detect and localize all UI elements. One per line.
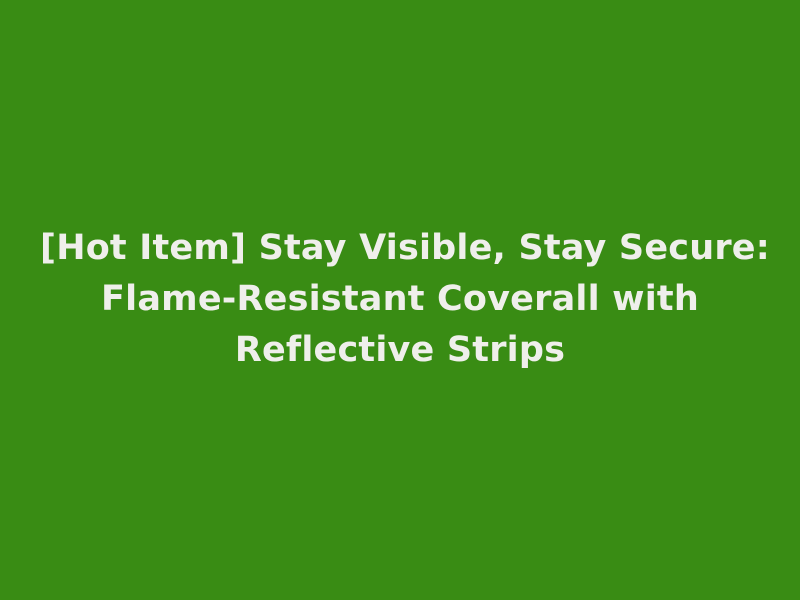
page-title-line-2: Flame-Resistant Coverall with [40,274,760,325]
page-title: [Hot Item] Stay Visible, Stay Secure: Fl… [40,223,760,376]
product-title-banner: [Hot Item] Stay Visible, Stay Secure: Fl… [0,0,800,600]
page-title-line-3: Reflective Strips [40,325,760,376]
page-title-line-1: [Hot Item] Stay Visible, Stay Secure: [40,223,760,274]
